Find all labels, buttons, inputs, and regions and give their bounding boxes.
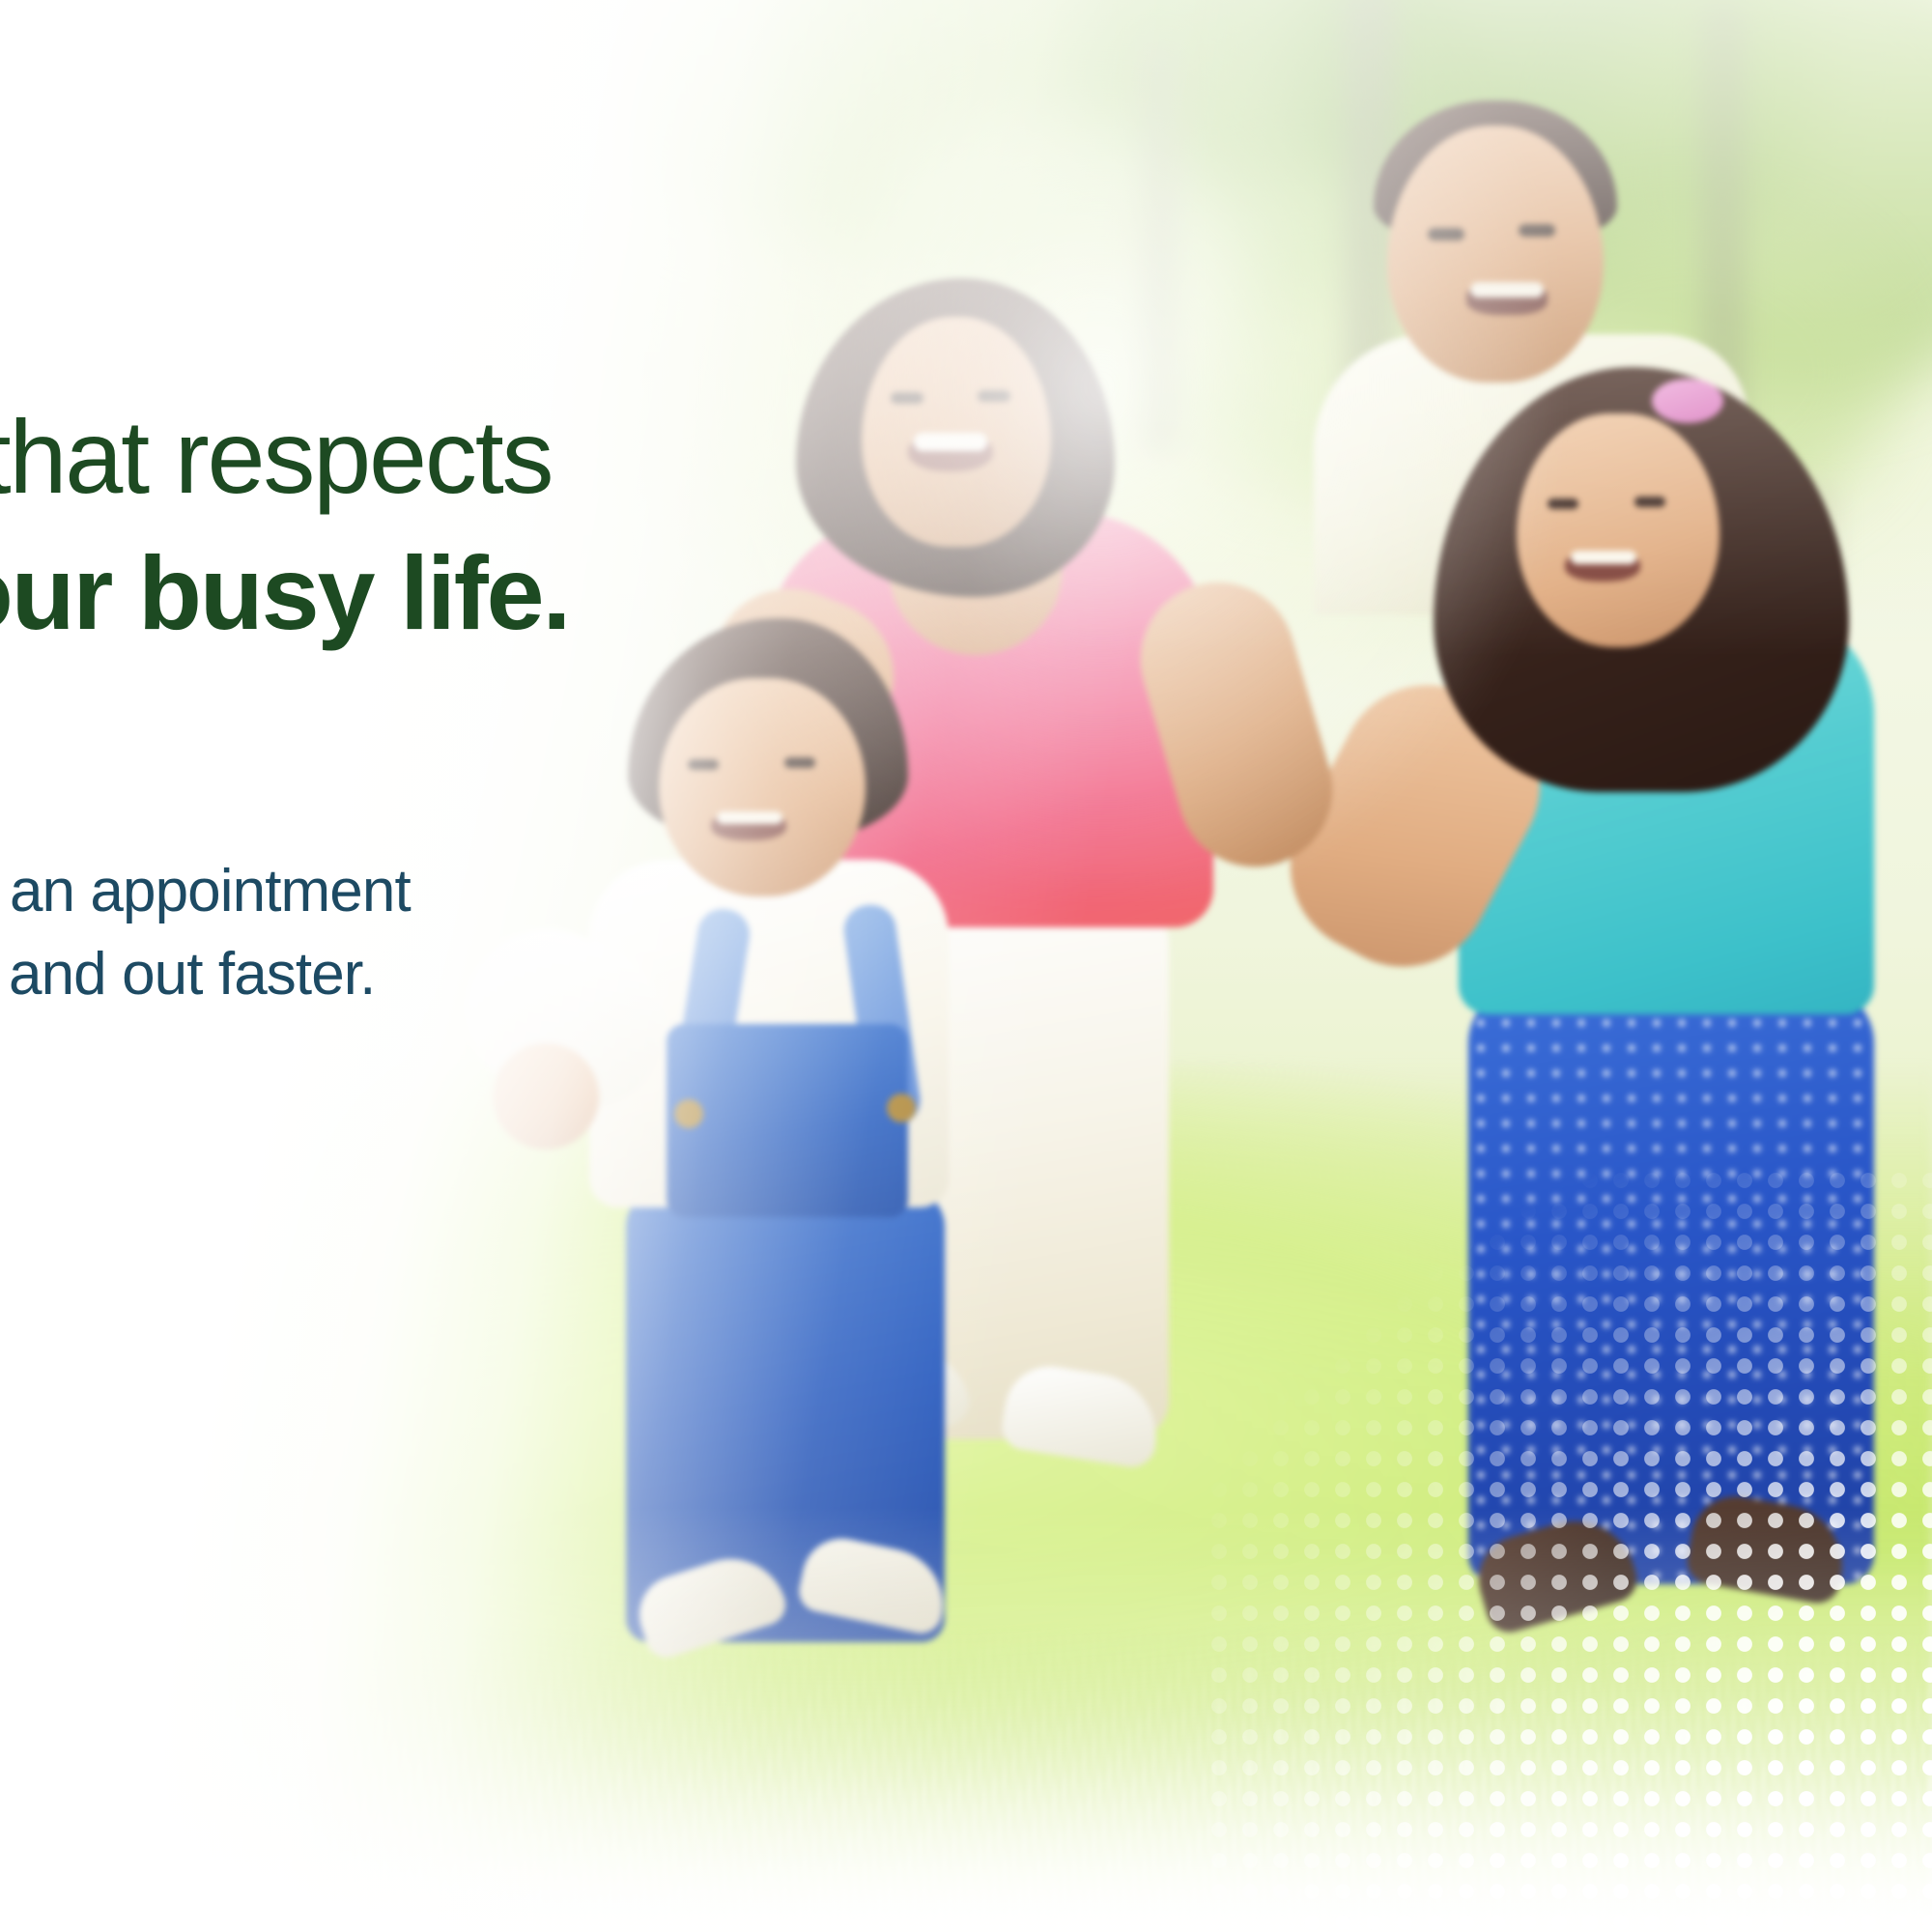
headline-line-1-rest: that respects (0, 398, 552, 515)
hero-banner: b that respects your busy life. dule an … (0, 0, 1932, 1932)
headline-line-1: b that respects (0, 388, 763, 525)
headline-line-2: your busy life. (0, 525, 763, 661)
hero-headline: b that respects your busy life. (0, 388, 763, 662)
subcopy-line-1: dule an appointment (0, 850, 753, 933)
hero-subcopy: dule an appointment et in and out faster… (0, 850, 753, 1015)
subcopy-line-2: et in and out faster. (0, 933, 753, 1016)
hero-copy-block: b that respects your busy life. dule an … (0, 0, 966, 1932)
